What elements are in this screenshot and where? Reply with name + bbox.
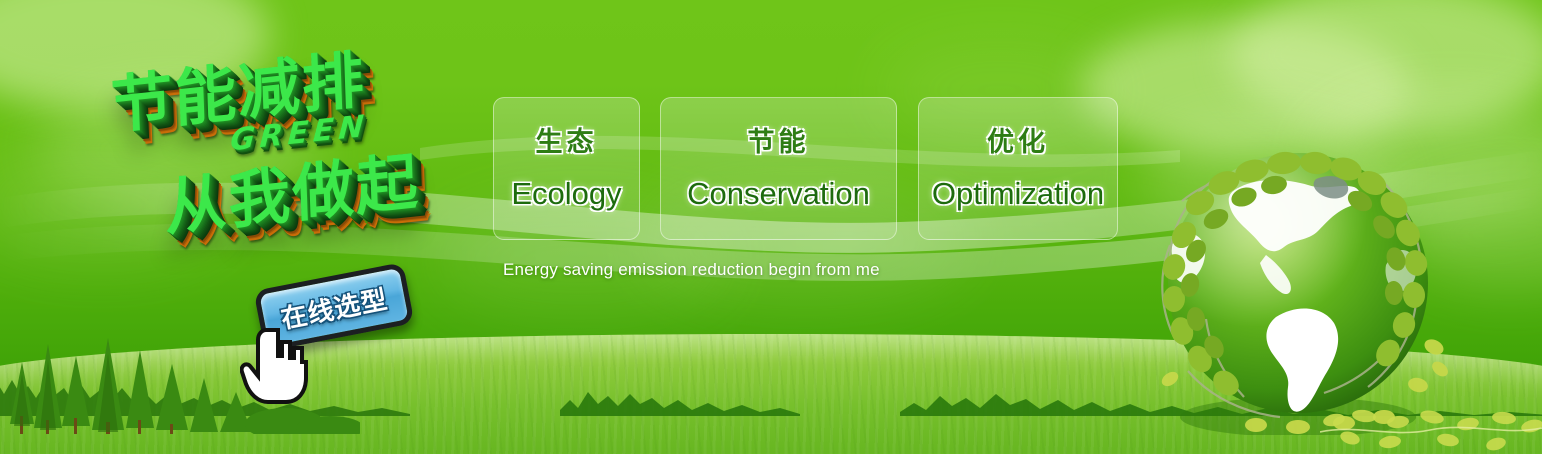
feature-card-cn-label: 节能 xyxy=(748,129,810,156)
eco-promo-banner: 节能减排 GREEN 从我做起 在线选型 生态 Ecology 节能 Conse… xyxy=(0,0,1542,454)
leaf-litter xyxy=(1320,408,1542,454)
globe-icon xyxy=(1148,135,1448,435)
feature-card-ecology[interactable]: 生态 Ecology xyxy=(493,97,640,240)
feature-card-en-label: Optimization xyxy=(932,178,1104,209)
feature-card-en-label: Ecology xyxy=(511,178,621,209)
tagline-text: Energy saving emission reduction begin f… xyxy=(503,260,880,280)
headline-line-2: 从我做起 xyxy=(163,131,421,248)
treeline-silhouette-mid xyxy=(560,370,800,416)
feature-card-cn-label: 优化 xyxy=(987,129,1049,156)
pointer-hand-icon xyxy=(240,322,314,408)
feature-card-en-label: Conservation xyxy=(687,178,870,209)
feature-card-conservation[interactable]: 节能 Conservation xyxy=(660,97,897,240)
leaf-globe-illustration xyxy=(1148,135,1448,435)
headline-3d-artwork: 节能减排 GREEN 从我做起 xyxy=(92,34,492,274)
feature-card-optimization[interactable]: 优化 Optimization xyxy=(918,97,1118,240)
feature-card-cn-label: 生态 xyxy=(536,129,598,156)
feature-card-list: 生态 Ecology 节能 Conservation 优化 Optimizati… xyxy=(493,97,1118,240)
